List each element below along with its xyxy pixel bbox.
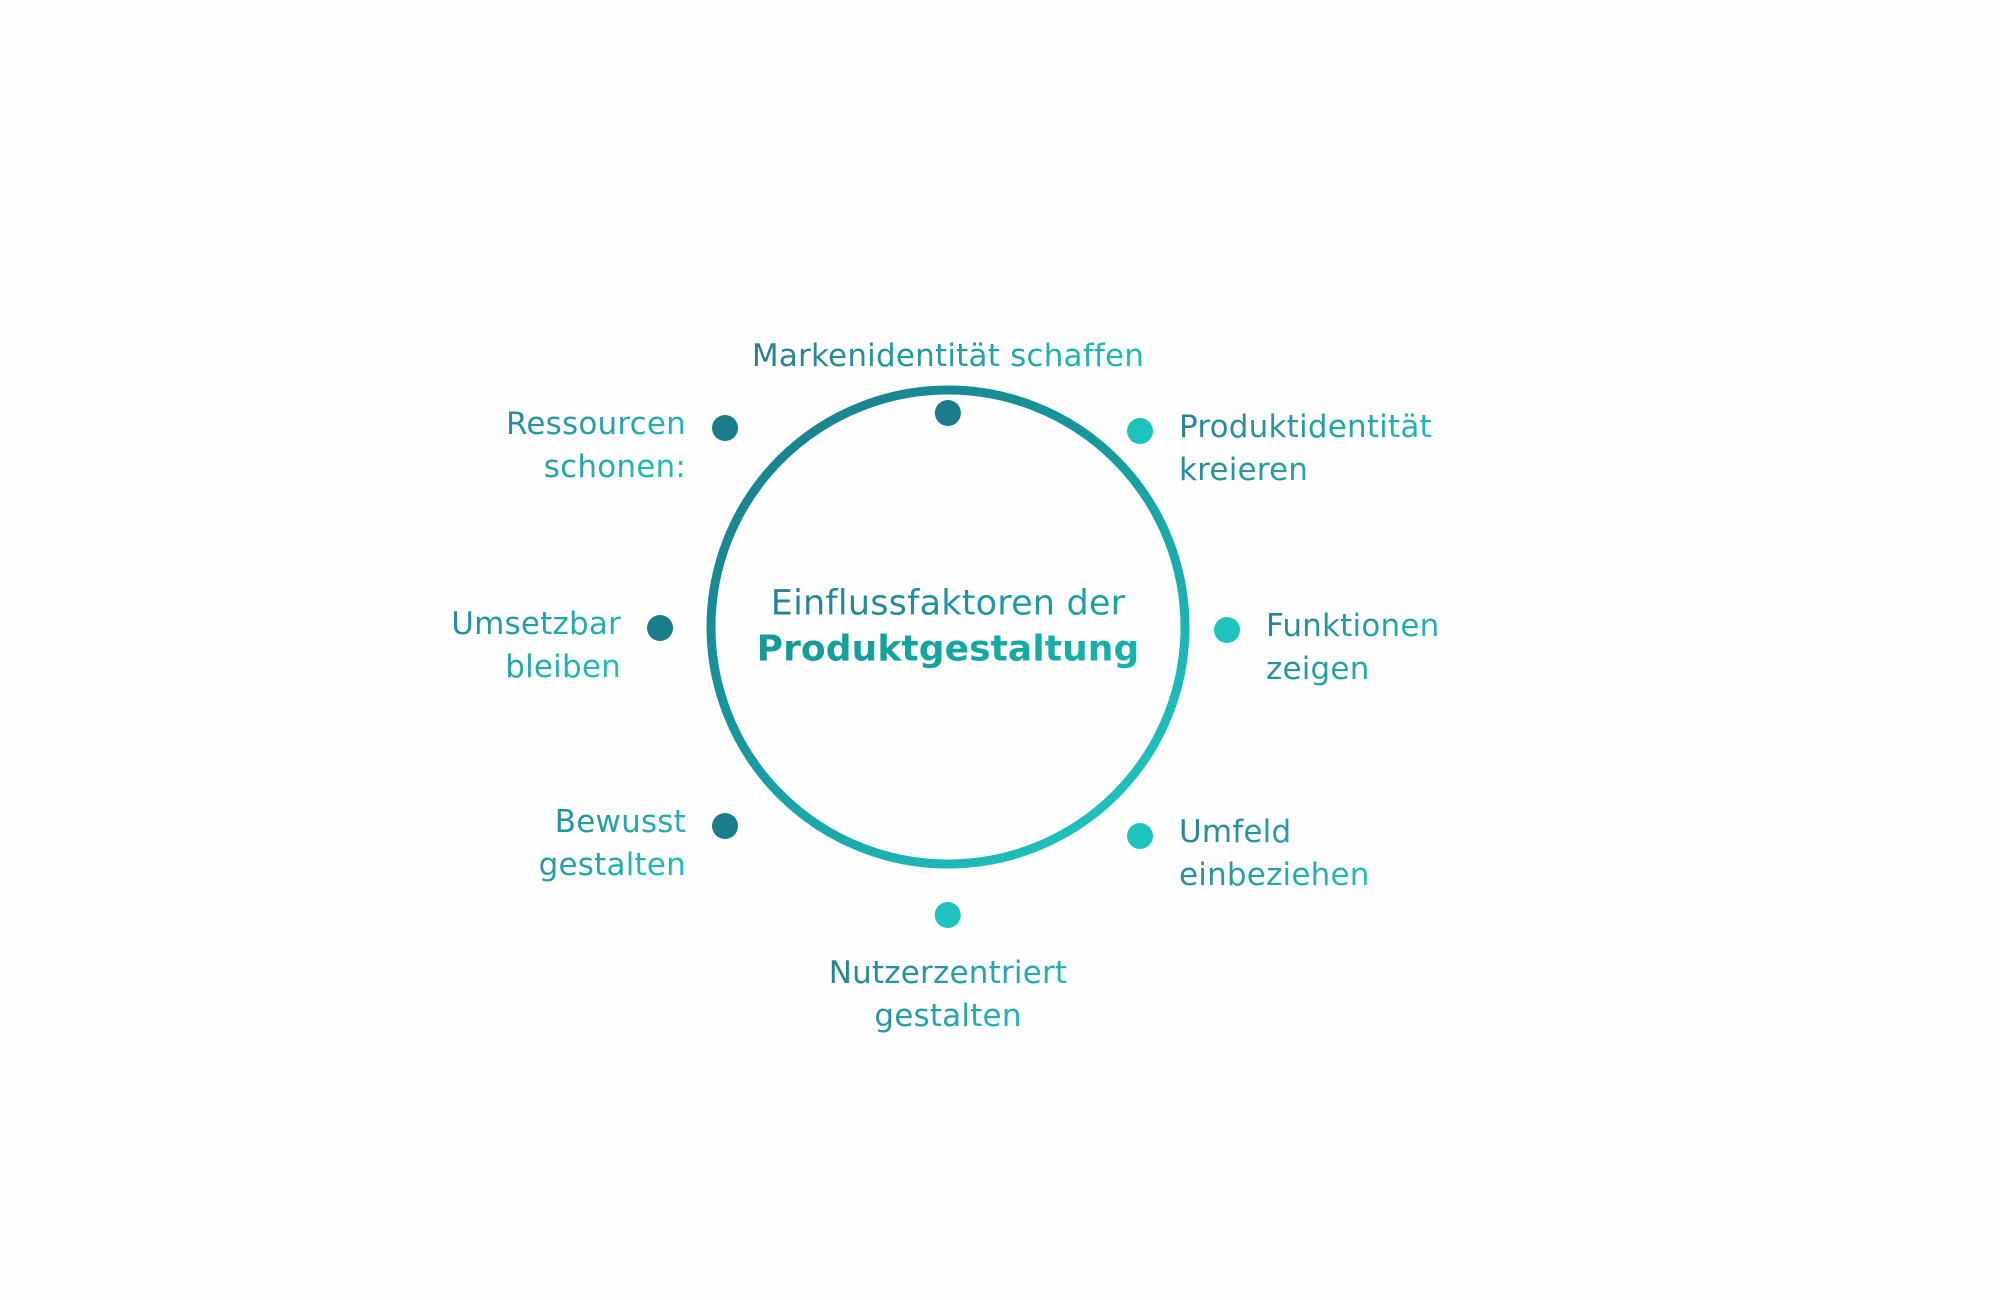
node-dot-bewusst xyxy=(712,813,738,839)
node-label-markenidentitaet: Markenidentität schaffen xyxy=(752,335,1144,378)
node-label-produktidentitaet: Produktidentität kreieren xyxy=(1179,406,1432,492)
node-umfeld[interactable]: Umfeld einbeziehen xyxy=(1127,811,1370,897)
node-dot-markenidentitaet xyxy=(935,400,961,426)
node-label-ressourcen: Ressourcen schonen: xyxy=(455,403,686,489)
node-dot-funktionen xyxy=(1214,617,1240,643)
node-dot-umfeld xyxy=(1127,823,1153,849)
node-dot-nutzerzentriert xyxy=(935,902,961,928)
diagram-canvas: Einflussfaktoren der Produktgestaltung M… xyxy=(0,0,2000,1300)
node-dot-produktidentitaet xyxy=(1127,418,1153,444)
node-label-funktionen: Funktionen zeigen xyxy=(1266,605,1439,691)
node-markenidentitaet[interactable]: Markenidentität schaffen xyxy=(752,335,1144,426)
node-label-umsetzbar: Umsetzbar bleiben xyxy=(405,603,621,689)
node-label-umfeld: Umfeld einbeziehen xyxy=(1179,811,1370,897)
node-dot-umsetzbar xyxy=(647,615,673,641)
node-label-nutzerzentriert: Nutzerzentriert gestalten xyxy=(829,952,1068,1038)
node-bewusst[interactable]: Bewusst gestalten xyxy=(495,801,738,887)
center-caption-line2: Produktgestaltung xyxy=(738,626,1158,672)
node-ressourcen[interactable]: Ressourcen schonen: xyxy=(455,403,738,489)
node-dot-ressourcen xyxy=(712,415,738,441)
node-umsetzbar[interactable]: Umsetzbar bleiben xyxy=(405,603,673,689)
node-nutzerzentriert[interactable]: Nutzerzentriert gestalten xyxy=(829,902,1068,1038)
center-caption-line1: Einflussfaktoren der xyxy=(738,582,1158,627)
node-produktidentitaet[interactable]: Produktidentität kreieren xyxy=(1127,406,1432,492)
node-label-bewusst: Bewusst gestalten xyxy=(495,801,686,887)
center-caption: Einflussfaktoren der Produktgestaltung xyxy=(738,582,1158,673)
node-funktionen[interactable]: Funktionen zeigen xyxy=(1214,605,1439,691)
